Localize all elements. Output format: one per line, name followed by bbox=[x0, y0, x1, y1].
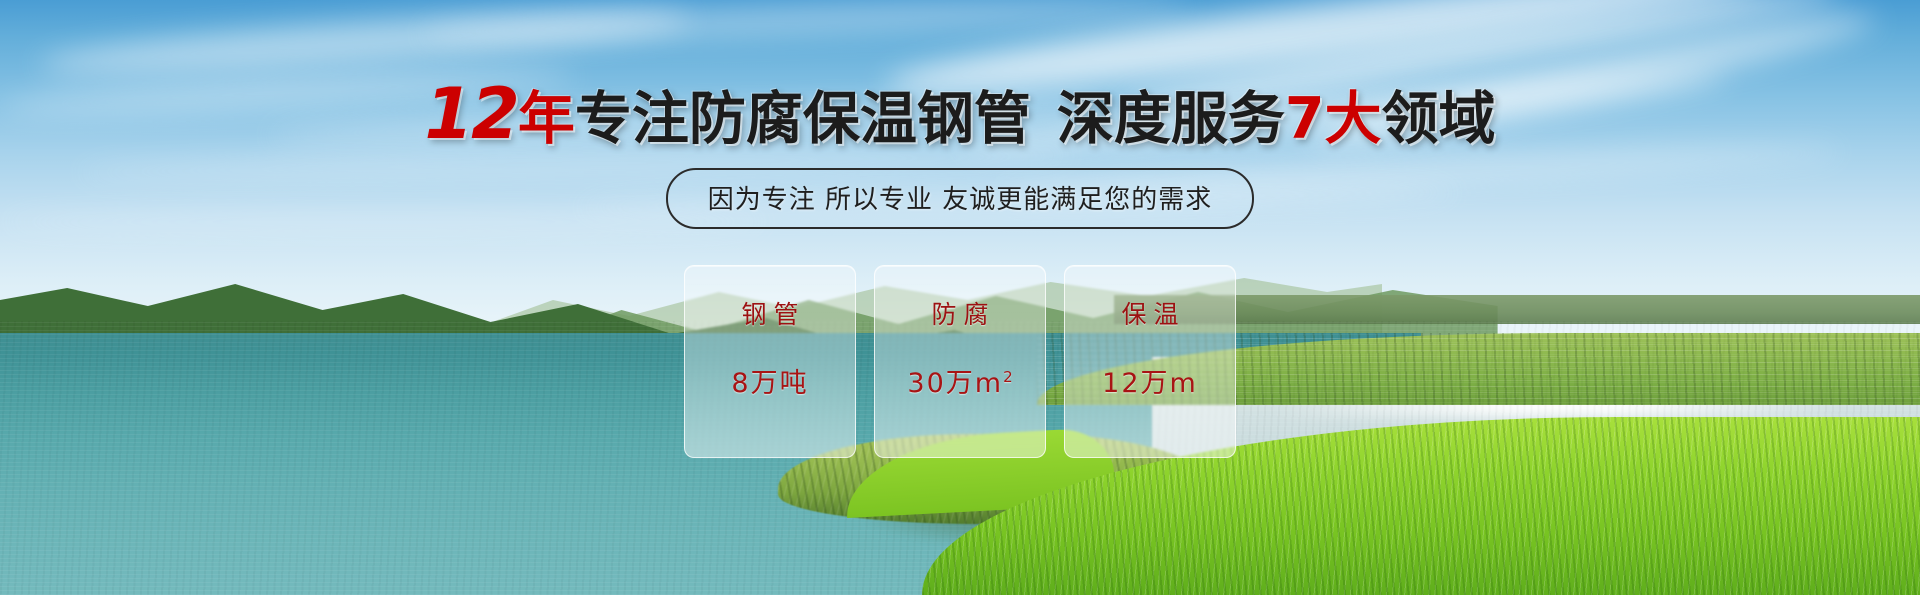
headline-highlight: 7大 bbox=[1285, 86, 1382, 152]
stat-card-title: 钢管 bbox=[734, 295, 805, 331]
stat-card-insulation[interactable]: 保温 12万m bbox=[1064, 265, 1236, 458]
subtitle-container: 因为专注 所以专业 友诚更能满足您的需求 bbox=[0, 168, 1920, 229]
headline-years-unit: 年 bbox=[518, 86, 575, 152]
banner-content: 12年专注防腐保温钢管深度服务7大领域 因为专注 所以专业 友诚更能满足您的需求… bbox=[0, 0, 1920, 595]
headline-part2: 深度服务 bbox=[1057, 86, 1285, 152]
stat-card-value: 30万m2 bbox=[907, 361, 1012, 400]
stat-cards: 钢管 8万吨 防腐 30万m2 保温 12万m bbox=[684, 265, 1236, 458]
headline: 12年专注防腐保温钢管深度服务7大领域 bbox=[0, 82, 1920, 151]
stat-card-title: 保温 bbox=[1114, 295, 1185, 331]
subtitle-pill: 因为专注 所以专业 友诚更能满足您的需求 bbox=[666, 168, 1255, 229]
stat-card-value-text: 30万m bbox=[907, 368, 1003, 399]
stat-card-title: 防腐 bbox=[924, 295, 995, 331]
stat-card-steel-pipe[interactable]: 钢管 8万吨 bbox=[684, 265, 856, 458]
headline-years-number: 12 bbox=[424, 73, 517, 155]
stat-card-value: 12万m bbox=[1102, 361, 1198, 400]
stat-card-value: 8万吨 bbox=[731, 361, 808, 400]
headline-part3: 领域 bbox=[1382, 86, 1496, 152]
headline-part1: 专注防腐保温钢管 bbox=[575, 86, 1031, 152]
stat-card-value-text: 12万m bbox=[1102, 368, 1198, 399]
stat-card-value-text: 8万吨 bbox=[731, 368, 808, 399]
stat-card-anticorrosion[interactable]: 防腐 30万m2 bbox=[874, 265, 1046, 458]
stat-card-value-superscript: 2 bbox=[1003, 368, 1013, 386]
hero-banner: 12年专注防腐保温钢管深度服务7大领域 因为专注 所以专业 友诚更能满足您的需求… bbox=[0, 0, 1920, 595]
